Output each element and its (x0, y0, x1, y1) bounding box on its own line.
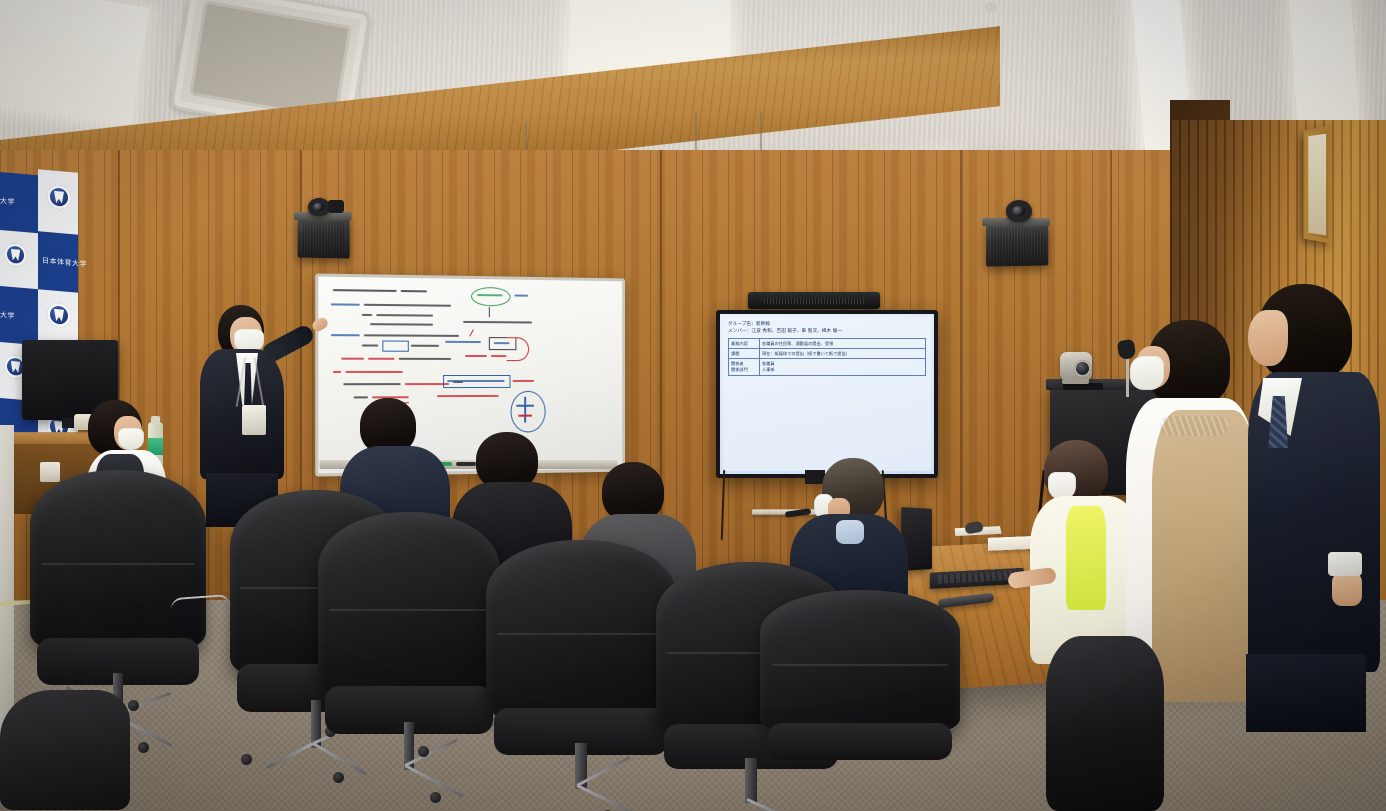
office-chair[interactable] (760, 590, 960, 811)
slide-members: メンバー：江波 秀和、吉田 聡子、車 聖次、梅木 駿一 (728, 328, 926, 335)
face-mask (118, 428, 144, 450)
presentation-slide: グループ名：新幹線 メンバー：江波 秀和、吉田 聡子、車 聖次、梅木 駿一 業務… (723, 317, 931, 471)
slide-group-name: グループ名：新幹線 (728, 321, 926, 328)
suit-trousers (1246, 654, 1366, 732)
camera-lens-icon (1074, 360, 1091, 377)
laptop-keyboard[interactable] (937, 571, 1018, 584)
chair-base (322, 758, 497, 811)
slide-table: 業務内容 各職員の住民票、通勤届の提出、受領 課題 現在：紙媒体での提出（紙で書… (728, 338, 926, 375)
camera-bracket-left (328, 200, 344, 213)
row-value: 各職員 人事係 (760, 359, 926, 375)
whiteboard-circled-term (471, 287, 510, 306)
framed-wall-plaque (1303, 125, 1331, 243)
row-label: 課題 (729, 349, 760, 359)
chair-armrest (170, 594, 234, 652)
ceiling-camera-right (1006, 200, 1032, 222)
ceiling-camera-left (308, 198, 330, 216)
chair-back (486, 540, 676, 720)
chair-back (318, 512, 500, 698)
yellow-top (1066, 506, 1106, 610)
table-row: 課題 現在：紙媒体での提出（紙で書いて紙で提出） (729, 349, 926, 359)
chair-back (760, 590, 960, 733)
table-row: 関係者 関係部門 各職員 人事係 (729, 359, 926, 375)
tv-soundbar (748, 292, 880, 309)
hand (1332, 572, 1362, 606)
office-chair-partial[interactable] (0, 690, 130, 810)
chair-base (490, 778, 672, 811)
collar (836, 520, 864, 544)
wall-mounted-tv[interactable]: グループ名：新幹線 メンバー：江波 秀和、吉田 聡子、車 聖次、梅木 駿一 業務… (716, 310, 938, 478)
lanyard-id-badge (242, 405, 266, 435)
office-chair[interactable] (1046, 636, 1164, 811)
wall-speaker-left (298, 217, 350, 258)
row-label: 関係者 関係部門 (729, 359, 760, 375)
office-chair[interactable] (486, 540, 676, 811)
face-mask (1130, 356, 1164, 390)
chair-seat (768, 723, 952, 760)
head (602, 462, 664, 522)
wall-speaker-right (986, 223, 1048, 266)
meeting-room-photo: 大学 日本体育大学 大学 日本体育大学 (0, 0, 1386, 811)
tv-screen: グループ名：新幹線 メンバー：江波 秀和、吉田 聡子、車 聖次、梅木 駿一 業務… (720, 314, 934, 474)
presenter-arm (260, 323, 317, 365)
sprinkler-icon (985, 2, 997, 12)
table-row: 業務内容 各職員の住民票、通勤届の提出、受領 (729, 339, 926, 349)
person-presenter (200, 305, 310, 515)
row-value: 現在：紙媒体での提出（紙で書いて紙で提出） (760, 349, 926, 359)
row-value: 各職員の住民票、通勤届の提出、受領 (760, 339, 926, 349)
shirt-cuff (1328, 552, 1362, 576)
office-chair[interactable] (318, 512, 500, 811)
person-attendee-8 (1240, 284, 1386, 724)
face (1248, 310, 1288, 366)
podium-control-panel[interactable] (1063, 383, 1103, 390)
row-label: 業務内容 (729, 339, 760, 349)
whiteboard-sketch-icon (511, 391, 546, 433)
camera-base (1062, 379, 1089, 384)
